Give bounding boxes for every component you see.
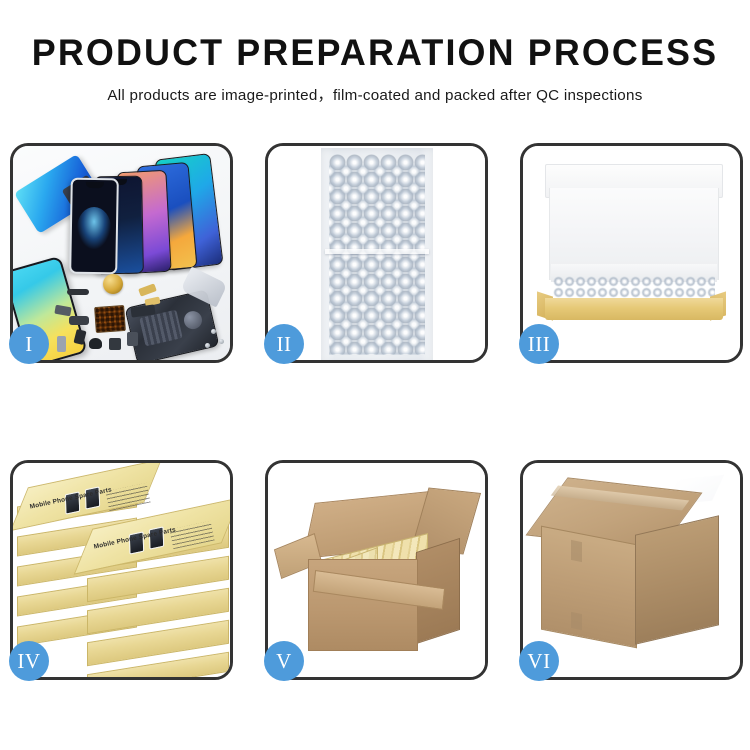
wallpaper-graphic-icon xyxy=(77,207,112,250)
phone-screen-1-icon xyxy=(69,178,119,275)
step-badge-6: VI xyxy=(519,641,559,681)
page-title: PRODUCT PREPARATION PROCESS xyxy=(11,34,739,73)
step-panel-4[interactable]: Mobile Phone Spare Parts Mobile Phone Sp… xyxy=(10,460,233,680)
screw-icon xyxy=(211,329,216,334)
step-panel-6[interactable]: VI xyxy=(520,460,743,680)
carton-tape-tab-icon xyxy=(571,612,582,630)
step-badge-4: IV xyxy=(9,641,49,681)
screw-icon xyxy=(219,339,224,344)
sealed-carton-side-icon xyxy=(635,515,719,644)
carton-tape-tab-icon xyxy=(571,540,582,562)
step-image-bubble-wrap xyxy=(268,146,485,360)
wrap-seam-icon xyxy=(325,249,429,254)
step-image-sealed-carton xyxy=(523,463,740,677)
spare-part-icon xyxy=(89,338,102,349)
spare-part-icon xyxy=(109,338,121,350)
phone-notch-icon xyxy=(86,182,104,188)
mailer-front-panel-icon xyxy=(545,298,723,320)
spare-part-icon xyxy=(57,336,66,352)
step-image-stacked-boxes: Mobile Phone Spare Parts Mobile Phone Sp… xyxy=(13,463,230,677)
spare-part-icon xyxy=(138,283,157,296)
step-panel-3[interactable]: III xyxy=(520,143,743,363)
step-badge-5: V xyxy=(264,641,304,681)
step-badge-2: II xyxy=(264,324,304,364)
step-image-inner-box xyxy=(523,146,740,360)
step-panel-1[interactable]: I xyxy=(10,143,233,363)
header: PRODUCT PREPARATION PROCESS All products… xyxy=(0,0,750,105)
box-stack: Mobile Phone Spare Parts Mobile Phone Sp… xyxy=(17,475,230,675)
screw-icon xyxy=(205,343,210,348)
product-preparation-infographic: PRODUCT PREPARATION PROCESS All products… xyxy=(0,0,750,750)
speaker-component-icon xyxy=(103,274,123,294)
process-steps-grid: I II III xyxy=(10,143,740,680)
chip-component-icon xyxy=(94,305,126,333)
step-badge-3: III xyxy=(519,324,559,364)
sealed-carton-front-icon xyxy=(541,526,637,649)
spare-part-icon xyxy=(67,289,89,295)
step-badge-1: I xyxy=(9,324,49,364)
step-image-carton-filling xyxy=(268,463,485,677)
page-subtitle: All products are image-printed，film-coat… xyxy=(0,83,750,105)
spare-part-icon xyxy=(127,332,138,346)
step-panel-5[interactable]: V xyxy=(265,460,488,680)
step-image-phone-parts xyxy=(13,146,230,360)
bubble-row-offset-icon xyxy=(329,163,425,355)
step-panel-2[interactable]: II xyxy=(265,143,488,363)
phone-screen-fan xyxy=(65,154,230,274)
spare-part-icon xyxy=(69,316,89,325)
